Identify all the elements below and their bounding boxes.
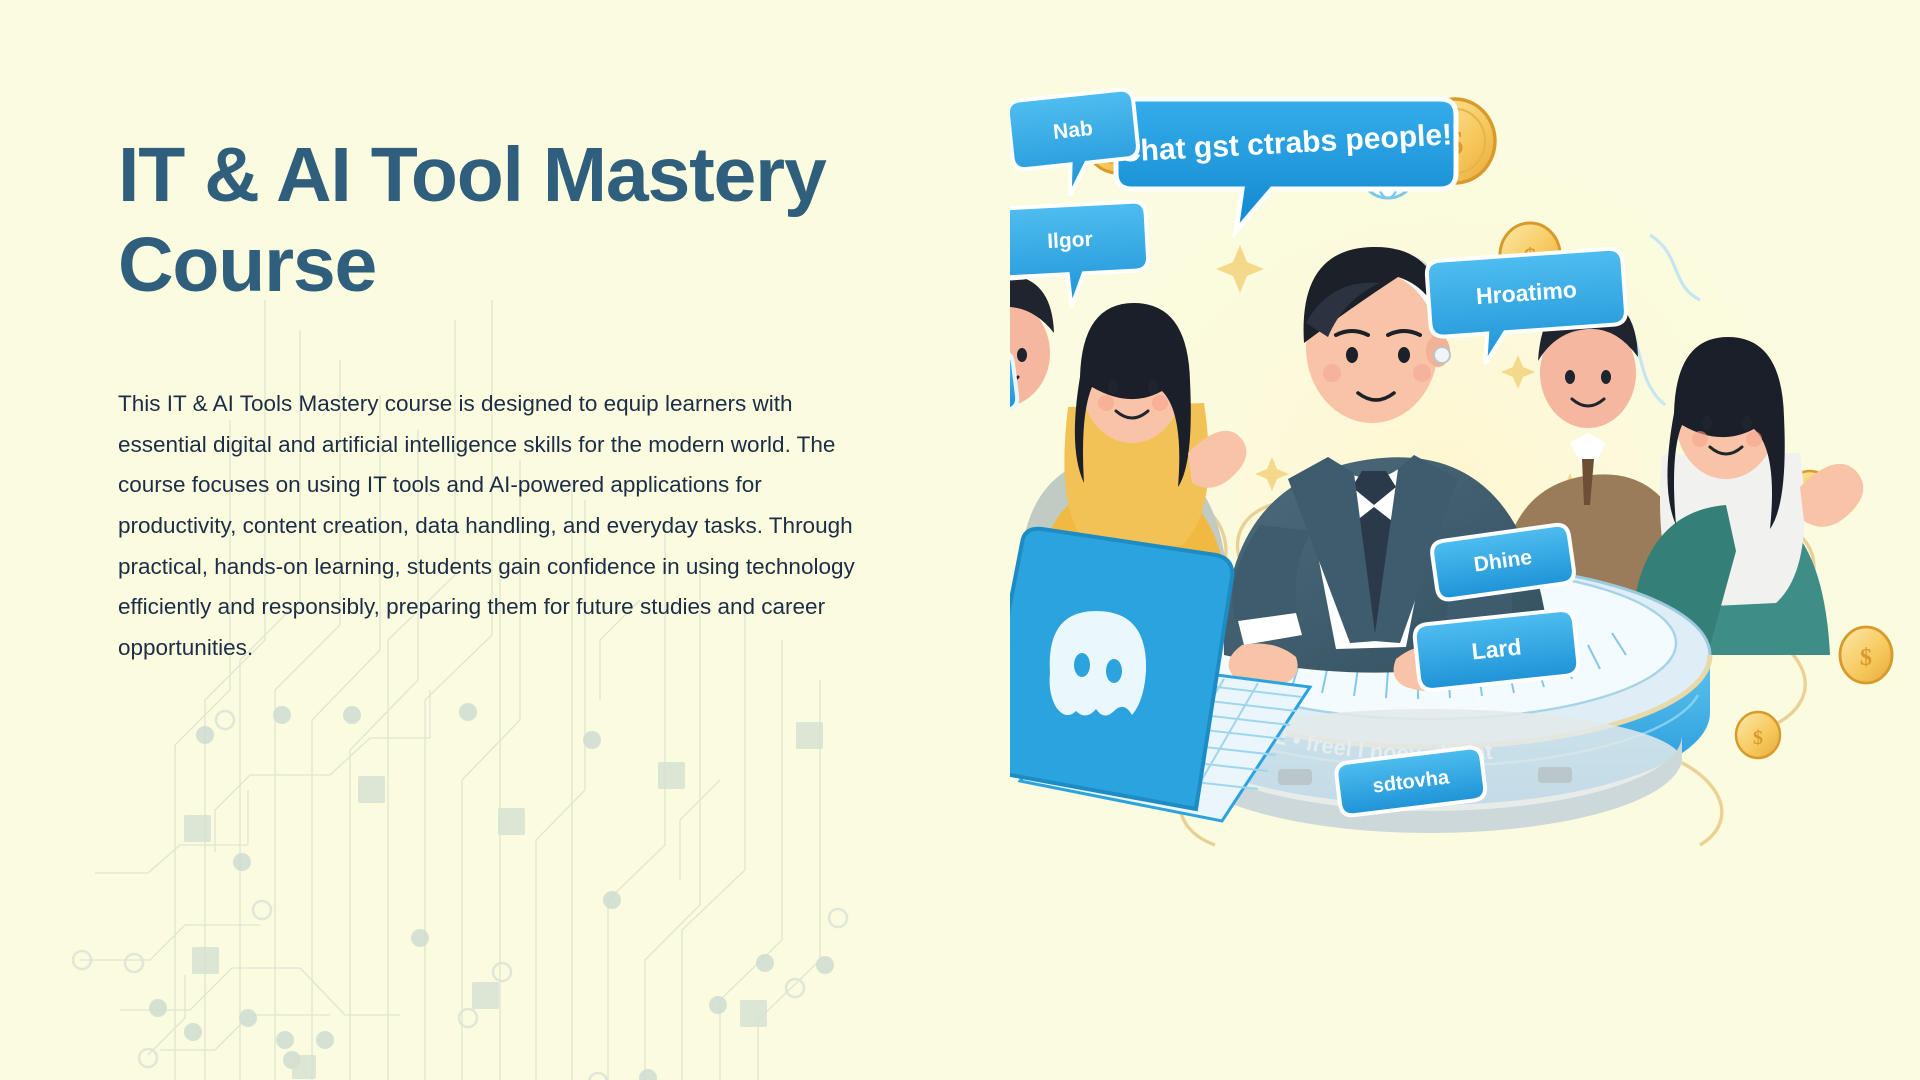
hero-text-column: IT & AI Tool Mastery Course This IT & AI…	[118, 130, 878, 668]
ghost-icon	[1050, 611, 1146, 716]
hero-illustration: $ $ $ $ $ $	[1010, 55, 1900, 895]
svg-text:Ilgor: Ilgor	[1047, 228, 1094, 253]
svg-text:$: $	[1753, 727, 1763, 749]
svg-text:Lard: Lard	[1470, 633, 1522, 664]
course-description-paragraph: This IT & AI Tools Mastery course is des…	[118, 384, 858, 668]
bubble-lard: Lard	[1414, 609, 1580, 691]
svg-text:Nab: Nab	[1052, 117, 1094, 144]
page-title: IT & AI Tool Mastery Course	[118, 130, 878, 310]
svg-text:$: $	[1860, 645, 1872, 671]
